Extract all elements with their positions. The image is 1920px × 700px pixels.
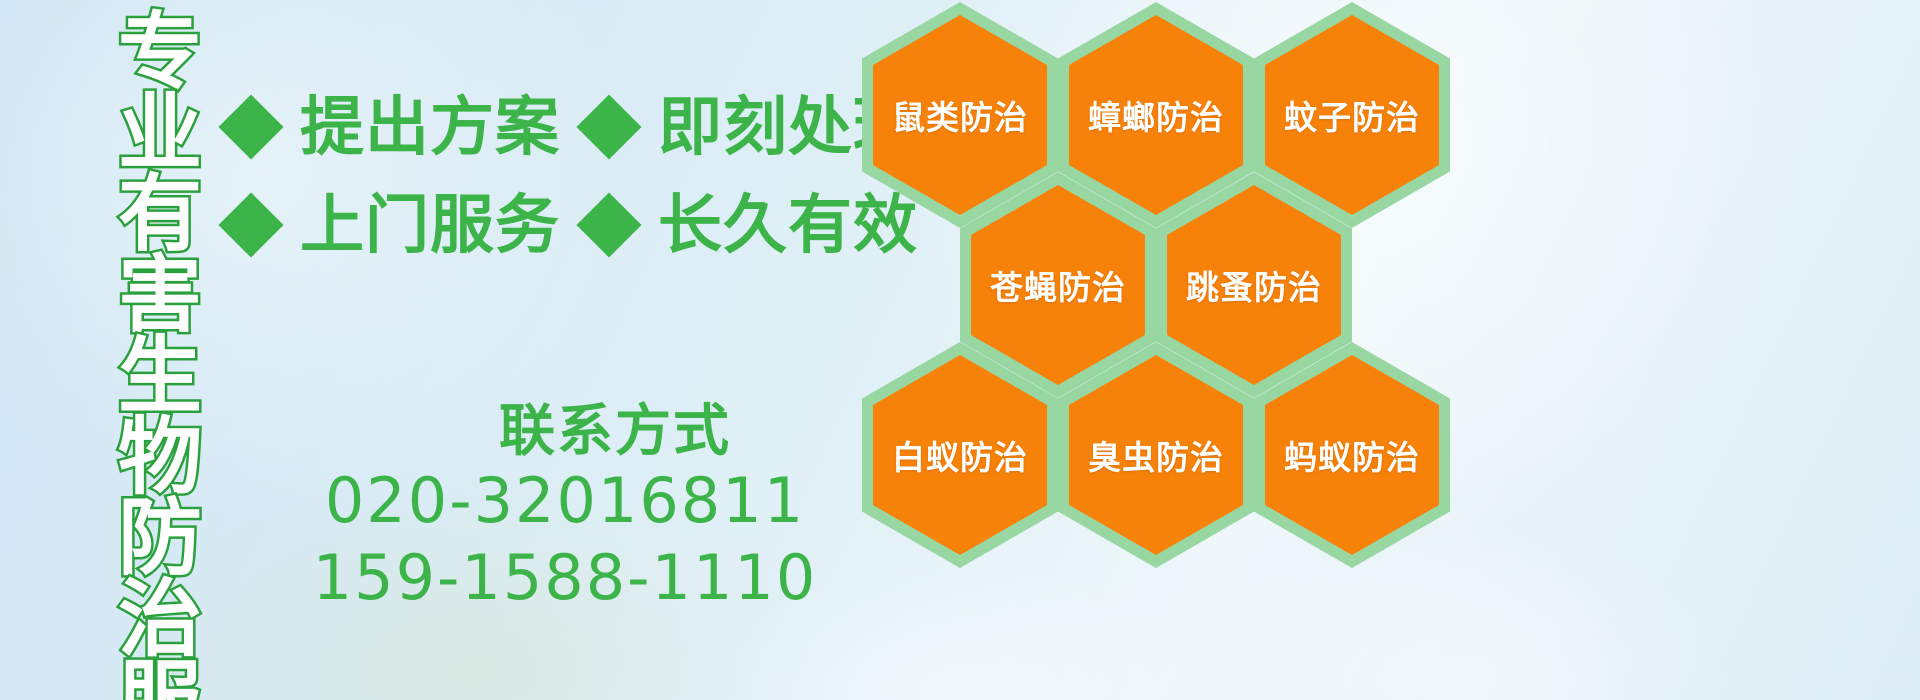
feature-label: 提出方案 xyxy=(300,95,560,159)
vertical-headline-char: 服 xyxy=(118,658,202,700)
service-label: 臭虫防治 xyxy=(1088,431,1224,479)
vertical-headline-char: 害 xyxy=(118,253,202,337)
service-honeycomb: 鼠类防治 蟑螂防治 蚊子防治 苍蝇防治 跳蚤防治 白蚁防治 xyxy=(856,0,1456,700)
feature-label: 上门服务 xyxy=(300,193,560,257)
vertical-headline-char: 生 xyxy=(118,334,202,418)
service-label: 跳蚤防治 xyxy=(1186,261,1322,309)
service-label: 蟑螂防治 xyxy=(1088,91,1224,139)
service-hex-ant[interactable]: 蚂蚁防治 xyxy=(1254,342,1450,568)
service-label: 白蚁防治 xyxy=(892,431,1028,479)
pest-control-banner: 专 业 有 害 生 物 防 治 服 务 提出方案 即刻处理 上门服务 长久有效 … xyxy=(0,0,1920,700)
service-label: 蚂蚁防治 xyxy=(1284,431,1420,479)
vertical-headline-char: 治 xyxy=(118,577,202,661)
vertical-headline-char: 专 xyxy=(118,10,202,94)
feature-list: 提出方案 即刻处理 上门服务 长久有效 xyxy=(228,78,868,274)
service-label: 鼠类防治 xyxy=(892,91,1028,139)
service-hex-bedbug[interactable]: 臭虫防治 xyxy=(1058,342,1254,568)
feature-row: 提出方案 即刻处理 xyxy=(228,78,868,176)
vertical-headline-char: 业 xyxy=(118,91,202,175)
vertical-headline-char: 有 xyxy=(118,172,202,256)
contact-block: 联系方式 020-32016811 159-1588-1110 xyxy=(300,400,830,617)
vertical-headline-char: 物 xyxy=(118,415,202,499)
diamond-icon xyxy=(218,192,283,257)
diamond-icon xyxy=(576,192,641,257)
phone-number-landline[interactable]: 020-32016811 xyxy=(300,462,830,540)
diamond-icon xyxy=(218,94,283,159)
diamond-icon xyxy=(576,94,641,159)
service-label: 苍蝇防治 xyxy=(990,261,1126,309)
contact-title: 联系方式 xyxy=(400,400,830,462)
vertical-headline: 专 业 有 害 生 物 防 治 服 务 xyxy=(104,10,216,670)
vertical-headline-char: 防 xyxy=(118,496,202,580)
feature-row: 上门服务 长久有效 xyxy=(228,176,868,274)
phone-number-mobile[interactable]: 159-1588-1110 xyxy=(300,539,830,617)
service-label: 蚊子防治 xyxy=(1284,91,1420,139)
service-hex-termite[interactable]: 白蚁防治 xyxy=(862,342,1058,568)
